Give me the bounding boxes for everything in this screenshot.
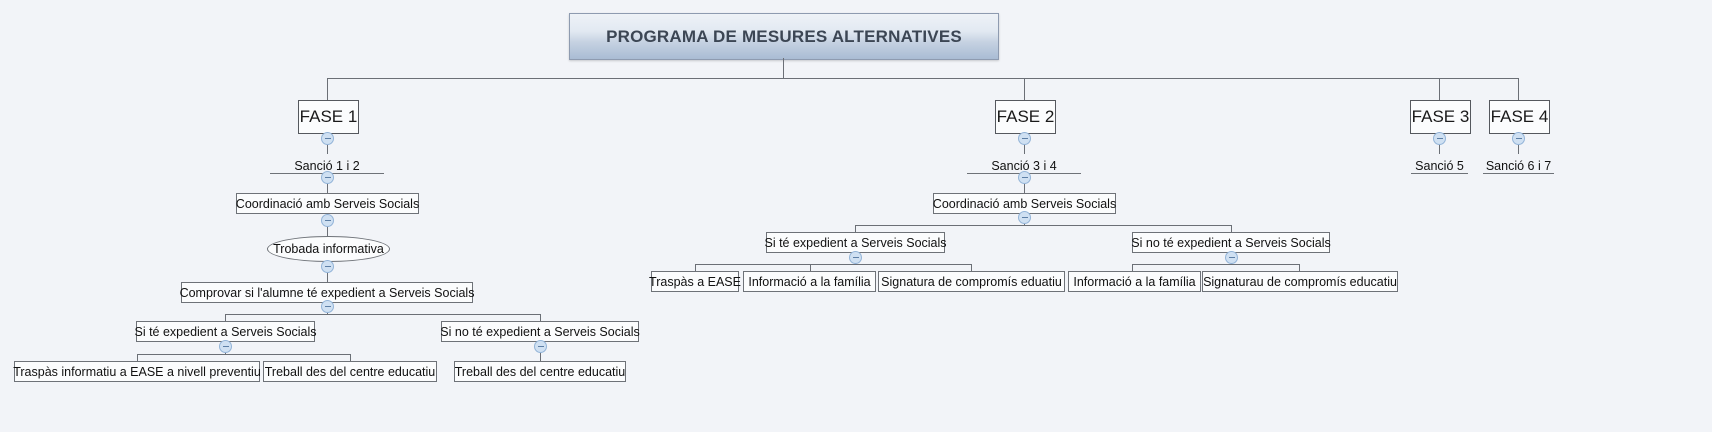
- node-fase1-leaf-traspas-ease[interactable]: Traspàs informatiu a EASE a nivell preve…: [14, 361, 260, 382]
- node-fase2-coordinacio-label: Coordinació amb Serveis Socials: [933, 197, 1116, 211]
- sanction-label-3: Sanció 5: [1415, 159, 1464, 173]
- node-fase1-no-leaf-treball-centre[interactable]: Treball des del centre educatiu: [454, 361, 626, 382]
- connector-fase2-yes-bus: [695, 264, 971, 265]
- node-fase1-branch-no-label: Si no té expedient a Serveis Socials: [440, 325, 639, 339]
- phase-label-fase-4: FASE 4: [1491, 107, 1549, 127]
- node-fase1-comprovar-label: Comprovar si l'alumne té expedient a Ser…: [180, 286, 475, 300]
- minus-circle-icon-fase-4[interactable]: [1512, 132, 1525, 145]
- node-fase1-coordinacio[interactable]: Coordinació amb Serveis Socials: [236, 193, 419, 214]
- minus-circle-icon-fase-1[interactable]: [321, 132, 334, 145]
- connector-drop-fase3: [1439, 78, 1440, 100]
- connector-fase2-no-bus: [1132, 264, 1299, 265]
- node-fase2-no-leaf-signatura-compromis[interactable]: Signaturau de compromís educatiu: [1202, 271, 1398, 292]
- node-fase2-no-leaf-informacio-label: Informació a la família: [1073, 275, 1195, 289]
- minus-circle-icon-fase2-branch-no[interactable]: [1225, 251, 1238, 264]
- phase-label-fase-1: FASE 1: [300, 107, 358, 127]
- sanction-label-4: Sanció 6 i 7: [1486, 159, 1551, 173]
- minus-circle-icon-fase1-branch-no[interactable]: [534, 340, 547, 353]
- minus-circle-icon-fase1-branch-yes[interactable]: [219, 340, 232, 353]
- minus-circle-icon-sancio-1[interactable]: [321, 171, 334, 184]
- connector-root-bus: [327, 78, 1519, 79]
- node-fase2-branch-si-no-te-expedient[interactable]: Si no té expedient a Serveis Socials: [1132, 232, 1330, 253]
- node-fase1-branch-si-no-te-expedient[interactable]: Si no té expedient a Serveis Socials: [441, 321, 639, 342]
- phase-node-fase-2[interactable]: FASE 2: [995, 100, 1056, 134]
- node-fase2-branch-no-label: Si no té expedient a Serveis Socials: [1131, 236, 1330, 250]
- connector-fase1-branch-bus: [225, 314, 541, 315]
- connector-root-stem: [783, 58, 784, 78]
- node-fase2-leaf-traspas-ease[interactable]: Traspàs a EASE: [651, 271, 739, 292]
- node-fase2-leaf-signatura-compromis[interactable]: Signatura de compromís eduatiu: [878, 271, 1065, 292]
- node-fase2-leaf-informacio-familia[interactable]: Informació a la família: [743, 271, 876, 292]
- connector-drop-fase1: [327, 78, 328, 100]
- minus-circle-icon-fase2-branch-yes[interactable]: [849, 251, 862, 264]
- phase-node-fase-3[interactable]: FASE 3: [1410, 100, 1471, 134]
- minus-circle-icon-fase1-trobada[interactable]: [321, 260, 334, 273]
- connector-drop-fase4: [1518, 78, 1519, 100]
- minus-circle-icon-sancio-2[interactable]: [1018, 171, 1031, 184]
- node-fase2-leaf-signatura-label: Signatura de compromís eduatiu: [881, 275, 1062, 289]
- connector-fase2-branch-bus: [855, 225, 1231, 226]
- node-fase2-no-leaf-informacio-familia[interactable]: Informació a la família: [1068, 271, 1201, 292]
- node-fase2-leaf-informacio-label: Informació a la família: [748, 275, 870, 289]
- diagram-canvas: PROGRAMA DE MESURES ALTERNATIVES FASE 1 …: [0, 0, 1712, 432]
- minus-circle-icon-fase1-comprovar[interactable]: [321, 300, 334, 313]
- root-node-label: PROGRAMA DE MESURES ALTERNATIVES: [606, 27, 962, 47]
- node-fase1-trobada-informativa[interactable]: Trobada informativa: [267, 236, 390, 262]
- node-fase2-branch-si-label: Si té expedient a Serveis Socials: [764, 236, 946, 250]
- minus-circle-icon-fase-2[interactable]: [1018, 132, 1031, 145]
- phase-node-fase-1[interactable]: FASE 1: [298, 100, 359, 134]
- node-fase1-leaf-treball-label: Treball des del centre educatiu: [265, 365, 435, 379]
- sanction-node-3[interactable]: Sanció 5: [1411, 154, 1468, 174]
- node-fase2-branch-si-te-expedient[interactable]: Si té expedient a Serveis Socials: [766, 232, 945, 253]
- node-fase1-coordinacio-label: Coordinació amb Serveis Socials: [236, 197, 419, 211]
- minus-circle-icon-fase-3[interactable]: [1433, 132, 1446, 145]
- node-fase1-leaf-traspas-label: Traspàs informatiu a EASE a nivell preve…: [13, 365, 261, 379]
- sanction-node-4[interactable]: Sanció 6 i 7: [1483, 154, 1554, 174]
- minus-circle-icon-fase2-coordinacio[interactable]: [1018, 211, 1031, 224]
- node-fase1-leaf-treball-centre[interactable]: Treball des del centre educatiu: [263, 361, 437, 382]
- phase-label-fase-2: FASE 2: [997, 107, 1055, 127]
- connector-drop-fase2: [1024, 78, 1025, 100]
- phase-label-fase-3: FASE 3: [1412, 107, 1470, 127]
- node-fase1-branch-si-te-expedient[interactable]: Si té expedient a Serveis Socials: [136, 321, 315, 342]
- root-node-programa[interactable]: PROGRAMA DE MESURES ALTERNATIVES: [569, 13, 999, 60]
- minus-circle-icon-fase1-coordinacio[interactable]: [321, 214, 334, 227]
- node-fase2-leaf-traspas-label: Traspàs a EASE: [649, 275, 741, 289]
- phase-node-fase-4[interactable]: FASE 4: [1489, 100, 1550, 134]
- connector-fase1-yes-bus: [137, 354, 350, 355]
- node-fase1-branch-si-label: Si té expedient a Serveis Socials: [134, 325, 316, 339]
- node-fase2-no-leaf-signatura-label: Signaturau de compromís educatiu: [1203, 275, 1397, 289]
- node-fase1-trobada-label: Trobada informativa: [273, 242, 384, 256]
- node-fase1-no-leaf-label: Treball des del centre educatiu: [455, 365, 625, 379]
